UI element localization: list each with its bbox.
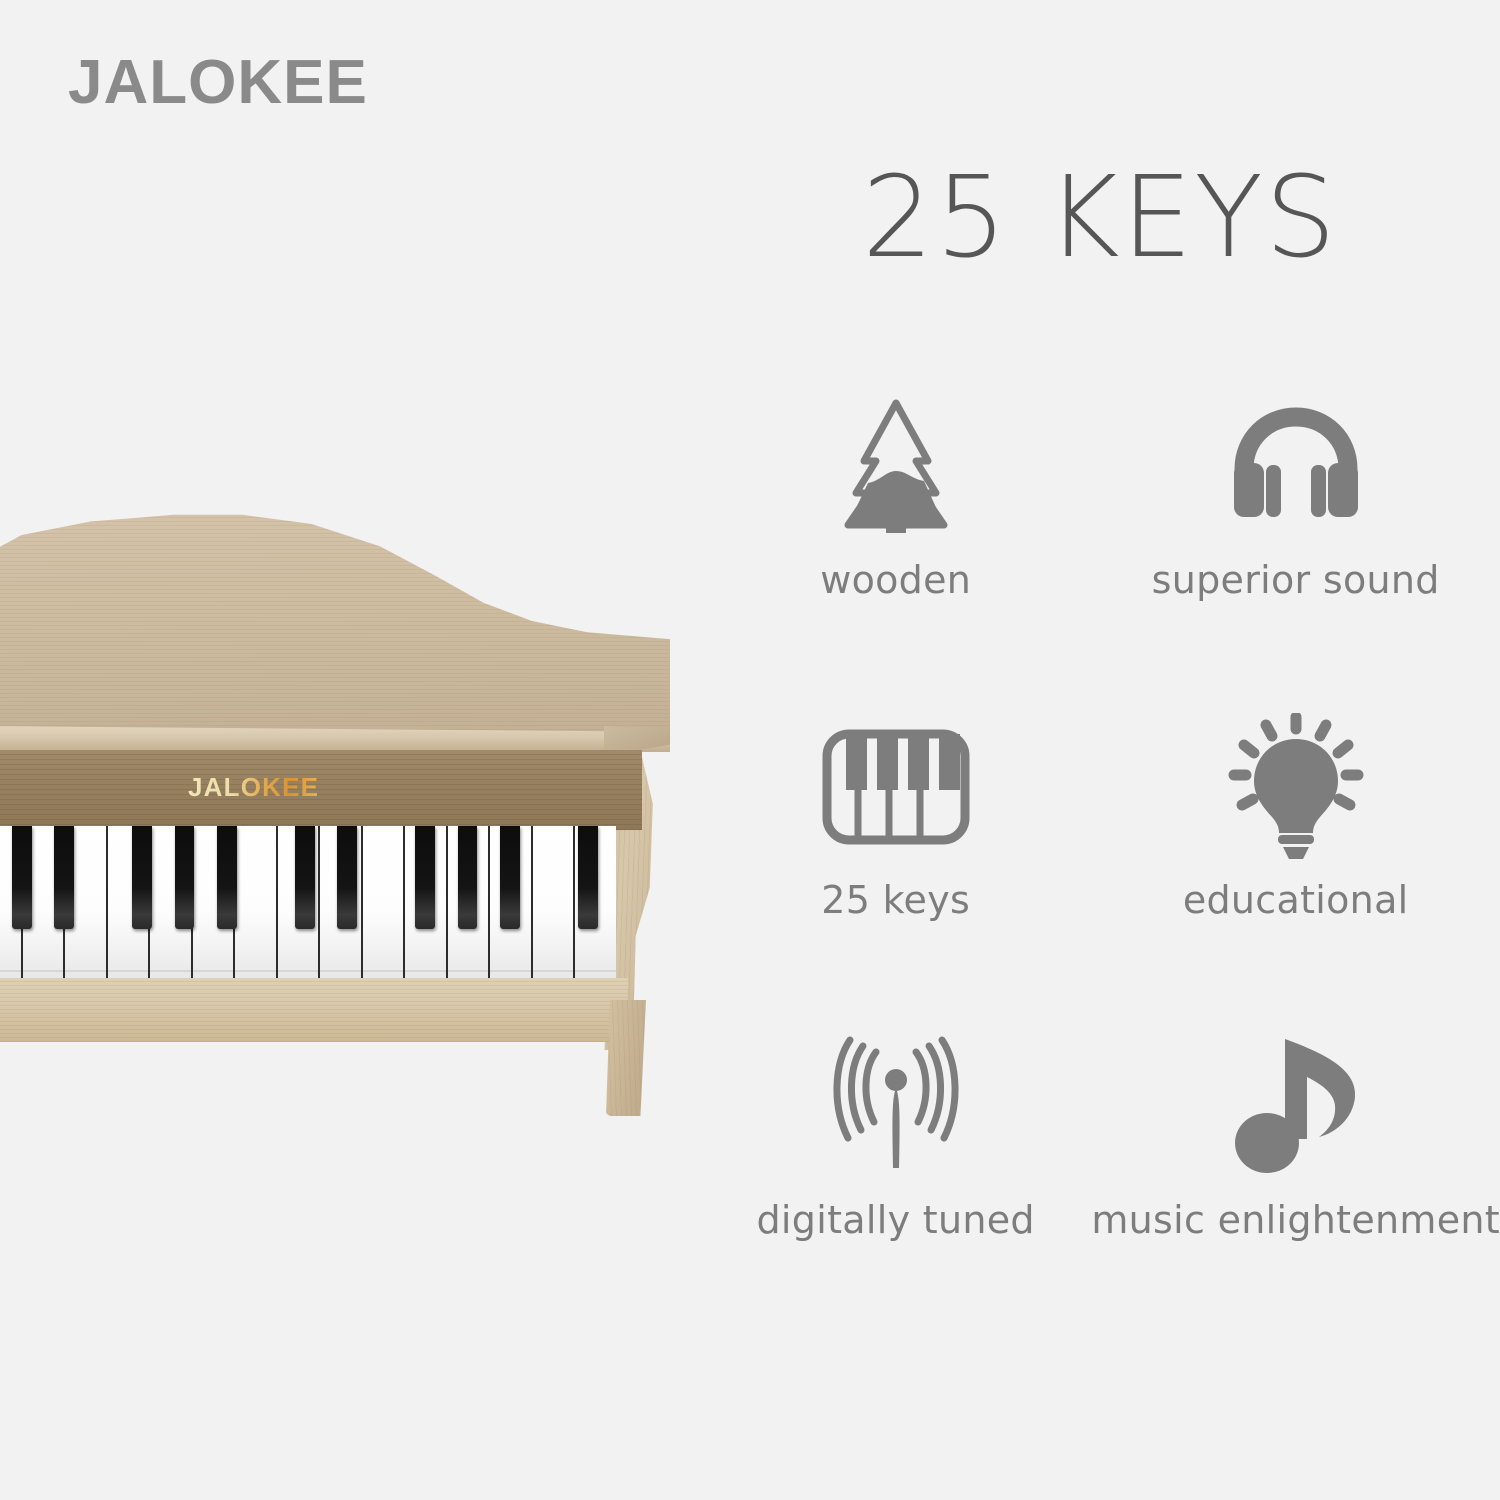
feature-item-superior-sound: superior sound xyxy=(1091,370,1500,690)
feature-item-25-keys: 25 keys xyxy=(700,690,1091,1010)
music-note-icon xyxy=(1211,1032,1381,1182)
headphones-icon xyxy=(1211,392,1381,542)
signal-tuner-icon xyxy=(811,1032,981,1182)
feature-grid: wooden superior sound xyxy=(700,370,1500,1330)
piano-black-key xyxy=(415,826,435,929)
piano-fallboard xyxy=(0,750,642,830)
product-image-toy-piano: JALOKEE xyxy=(0,500,692,1120)
piano-front-rail xyxy=(0,978,628,1042)
piano-black-key xyxy=(12,826,32,929)
feature-item-digitally-tuned: digitally tuned xyxy=(700,1010,1091,1330)
piano-fallboard-brand-logo: JALOKEE xyxy=(188,772,319,803)
piano-black-key xyxy=(337,826,357,929)
page-headline: 25 KEYS xyxy=(700,160,1500,278)
piano-black-keys xyxy=(0,826,616,990)
piano-black-key xyxy=(175,826,195,929)
tree-icon xyxy=(811,392,981,542)
feature-label: superior sound xyxy=(1152,558,1440,602)
piano-keys-icon xyxy=(811,712,981,862)
feature-label: 25 keys xyxy=(821,878,970,922)
piano-black-key xyxy=(458,826,478,929)
feature-label: wooden xyxy=(820,558,971,602)
feature-label: educational xyxy=(1183,878,1409,922)
feature-label: digitally tuned xyxy=(757,1198,1035,1242)
brand-logo: JALOKEE xyxy=(68,52,368,114)
feature-item-educational: educational xyxy=(1091,690,1500,1010)
piano-black-key xyxy=(295,826,315,929)
piano-leg xyxy=(606,1000,646,1116)
lightbulb-icon xyxy=(1211,712,1381,862)
piano-black-key xyxy=(217,826,237,929)
feature-item-wooden: wooden xyxy=(700,370,1091,690)
piano-lid xyxy=(0,508,670,734)
piano-keyboard xyxy=(0,826,616,990)
piano-black-key xyxy=(54,826,74,929)
feature-item-music-enlightenment: music enlightenment xyxy=(1091,1010,1500,1330)
feature-label: music enlightenment xyxy=(1091,1198,1500,1242)
piano-black-key xyxy=(132,826,152,929)
piano-black-key xyxy=(500,826,520,929)
piano-black-key xyxy=(578,826,598,929)
